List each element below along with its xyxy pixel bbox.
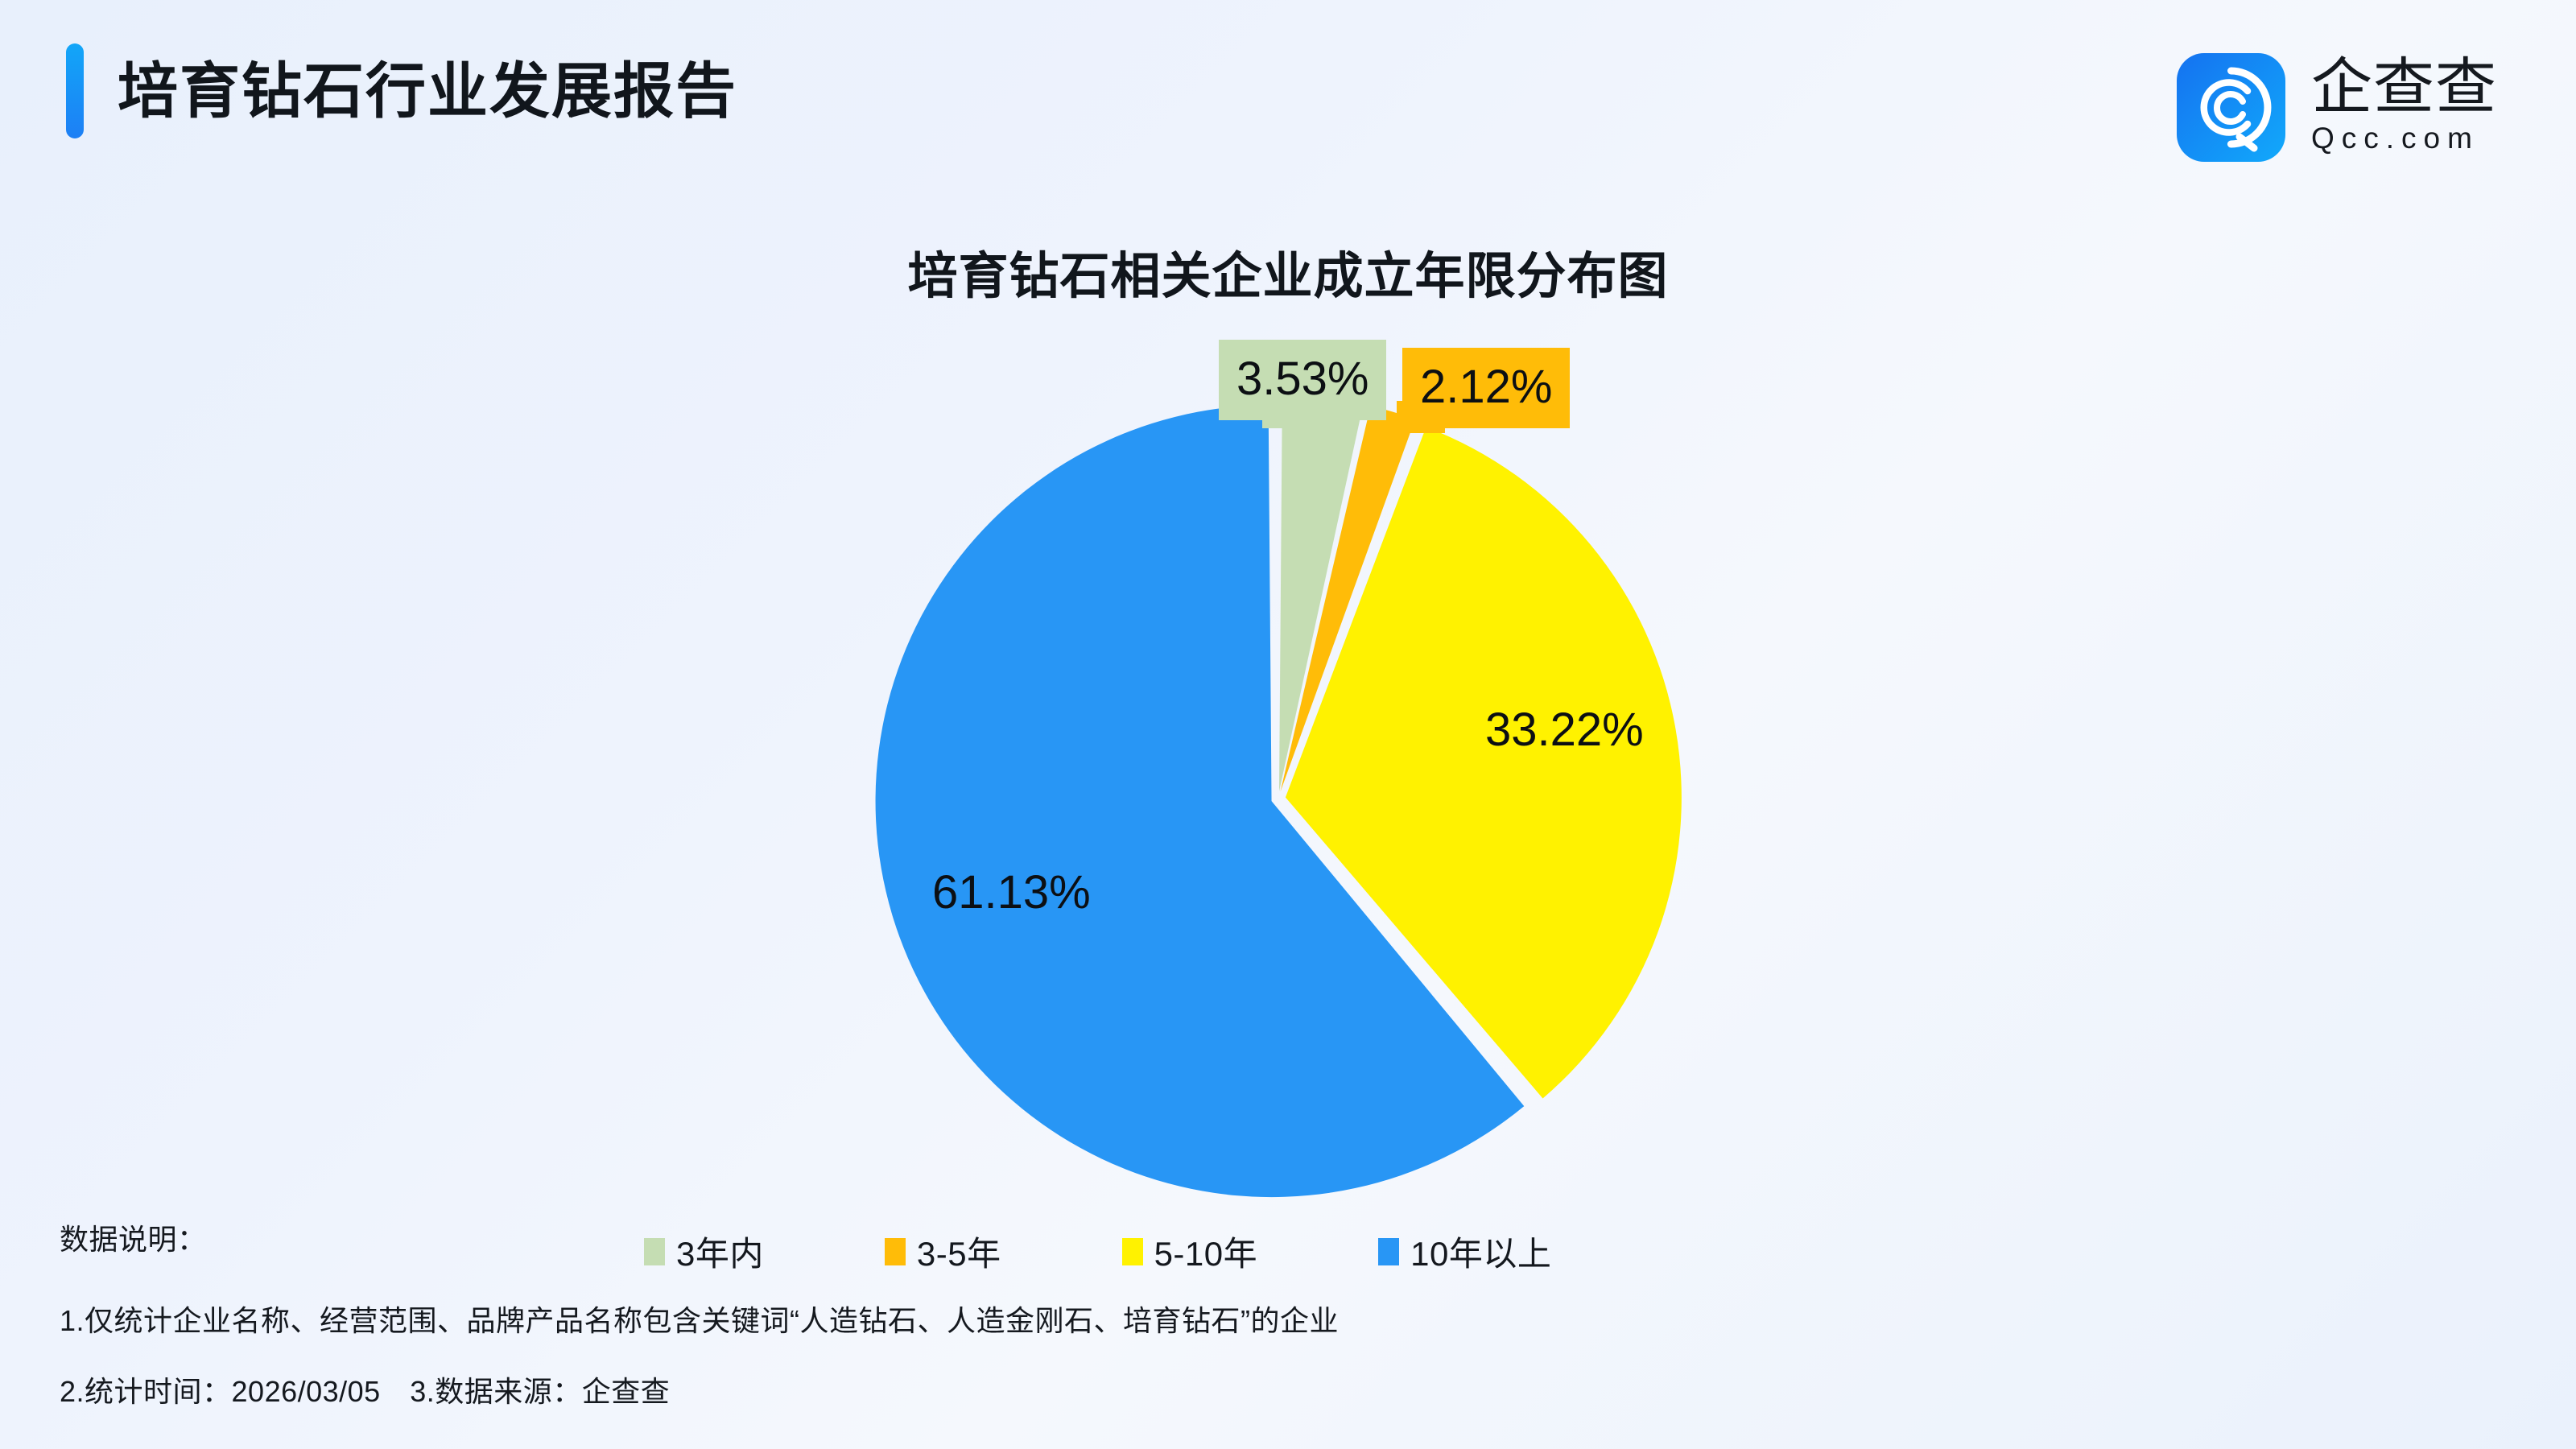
footer-note-1: 1.仅统计企业名称、经营范围、品牌产品名称包含关键词“人造钻石、人造金刚石、培育… <box>60 1298 2394 1340</box>
brand-logo-text: 企查查 Qcc.com <box>2311 59 2497 155</box>
page-header: 培育钻石行业发展报告 企查查 Qcc.com <box>0 0 2576 201</box>
pie-slice[interactable] <box>1281 406 1415 791</box>
pie-slice[interactable] <box>1286 427 1682 1098</box>
pie-label-3-years: 3.53% <box>1219 340 1386 420</box>
page-title: 培育钻石行业发展报告 <box>118 61 737 122</box>
chart-title: 培育钻石相关企业成立年限分布图 <box>0 235 2576 308</box>
brand-logo[interactable]: 企查查 Qcc.com <box>2177 47 2497 167</box>
footer-note-2: 2.统计时间：2026/03/05 3.数据来源：企查查 <box>60 1368 2394 1410</box>
footer-heading: 数据说明： <box>60 1225 2394 1254</box>
pie-slice[interactable] <box>1279 395 1363 791</box>
pie-label-3-to-5-years: 2.12% <box>1402 348 1570 428</box>
title-accent-bar <box>66 43 84 138</box>
footer-notes: 数据说明： 1.仅统计企业名称、经营范围、品牌产品名称包含关键词“人造钻石、人造… <box>60 1225 2394 1410</box>
brand-name-en: Qcc.com <box>2311 122 2497 155</box>
pie-label-over-10-years: 61.13% <box>932 869 1091 916</box>
brand-name-cn: 企查查 <box>2311 59 2497 117</box>
pie-label-5-to-10-years: 33.22% <box>1485 707 1644 753</box>
pie-slice-group <box>876 395 1682 1197</box>
qcc-q-spiral-icon <box>2177 53 2285 162</box>
pie-slice[interactable] <box>876 405 1525 1197</box>
page-title-group: 培育钻石行业发展报告 <box>66 39 737 143</box>
